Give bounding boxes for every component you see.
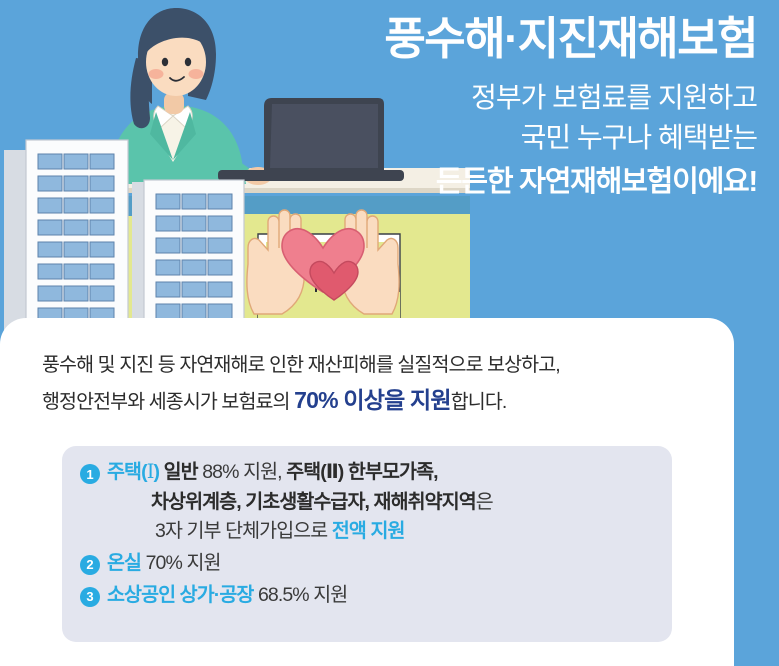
list-badge-3: 3 — [80, 587, 100, 607]
intro-line-2-prefix: 행정안전부와 세종시가 보험료의 — [42, 391, 294, 413]
page-title: 풍수해·지진재해보험 — [237, 14, 757, 64]
hero-subtitle-line-3: 든든한 자연재해보험이에요! — [237, 162, 757, 203]
item1-bold-1: 일반 — [159, 461, 198, 483]
item3-normal: 68.5% 지원 — [253, 584, 347, 606]
content-card: 풍수해 및 지진 등 자연재해로 인한 재산피해를 실질적으로 보상하고, 행정… — [0, 318, 734, 666]
list-item-1-text: 주택(Ⅰ) 일반 88% 지원, 주택(Ⅱ) 한부모가족, 차상위계층, 기초생… — [107, 458, 493, 547]
hero-banner: 풍수해·지진재해보험 정부가 보험료를 지원하고 국민 누구나 혜택받는 든든한… — [0, 0, 779, 330]
hero-subtitle-line-2: 국민 누구나 혜택받는 — [237, 118, 757, 158]
support-list-panel: 1 주택(Ⅰ) 일반 88% 지원, 주택(Ⅱ) 한부모가족, 차상위계층, 기… — [62, 446, 672, 642]
item1-normal-1: 88% 지원, — [198, 461, 286, 483]
item1-line-3: 3자 기부 단체가입으로 전액 지원 — [107, 517, 493, 547]
list-item-2-text: 온실 70% 지원 — [107, 549, 221, 579]
poster-root: 풍수해·지진재해보험 정부가 보험료를 지원하고 국민 누구나 혜택받는 든든한… — [0, 0, 779, 666]
support-list: 1 주택(Ⅰ) 일반 88% 지원, 주택(Ⅱ) 한부모가족, 차상위계층, 기… — [80, 458, 662, 612]
list-item-3-text: 소상공인 상가·공장 68.5% 지원 — [107, 581, 347, 611]
hero-text-block: 풍수해·지진재해보험 정부가 보험료를 지원하고 국민 누구나 혜택받는 든든한… — [237, 14, 757, 203]
item1-roman-numeral: Ⅰ — [147, 462, 154, 483]
list-item: 3 소상공인 상가·공장 68.5% 지원 — [80, 581, 662, 611]
list-badge-1: 1 — [80, 464, 100, 484]
item2-blue: 온실 — [107, 552, 141, 574]
item1-blue-prefix: 주택( — [107, 461, 147, 483]
item1-bold-2: 주택(Ⅱ) 한부모가족, — [286, 461, 437, 483]
hands-heart-illustration — [238, 196, 408, 330]
intro-highlight: 70% 이상을 지원 — [294, 387, 451, 413]
item1-line3-normal: 3자 기부 단체가입으로 — [155, 520, 332, 542]
intro-line-1: 풍수해 및 지진 등 자연재해로 인한 재산피해를 실질적으로 보상하고, — [42, 354, 560, 376]
item1-line2-bold: 차상위계층, 기초생활수급자, 재해취약지역 — [151, 491, 476, 513]
item3-blue: 소상공인 상가·공장 — [107, 584, 253, 606]
item2-normal: 70% 지원 — [141, 552, 220, 574]
item1-line2-normal: 은 — [476, 491, 493, 513]
item1-line-2: 차상위계층, 기초생활수급자, 재해취약지역은 — [107, 488, 493, 518]
list-badge-2: 2 — [80, 555, 100, 575]
hero-subtitle-line-1: 정부가 보험료를 지원하고 — [237, 78, 757, 118]
list-item: 2 온실 70% 지원 — [80, 549, 662, 579]
list-item: 1 주택(Ⅰ) 일반 88% 지원, 주택(Ⅱ) 한부모가족, 차상위계층, 기… — [80, 458, 662, 547]
intro-line-2-suffix: 합니다. — [451, 391, 507, 413]
item1-line3-blue: 전액 지원 — [332, 520, 405, 542]
intro-paragraph: 풍수해 및 지진 등 자연재해로 인한 재산피해를 실질적으로 보상하고, 행정… — [42, 350, 702, 419]
